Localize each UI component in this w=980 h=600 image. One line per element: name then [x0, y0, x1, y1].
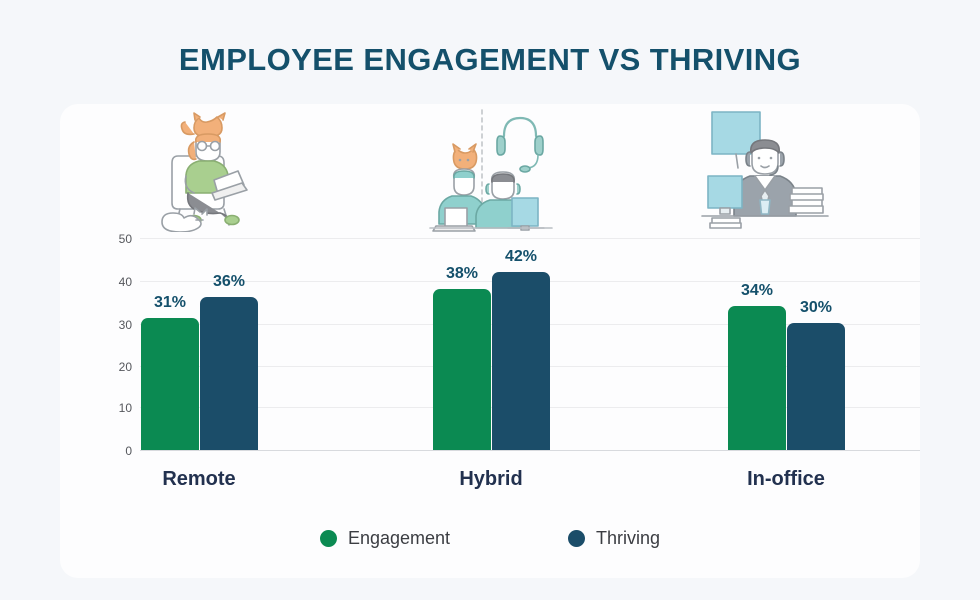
- ytick-label-20: 20: [88, 360, 132, 374]
- chart-legend: Engagement Thriving: [60, 528, 920, 549]
- chart-card: 50 40 30 20 10 0 31% 36% Remote 38% 42% …: [60, 104, 920, 578]
- bar-label-inoffice-thriving: 30%: [787, 299, 845, 317]
- legend-item-engagement[interactable]: Engagement: [320, 528, 450, 549]
- ytick-label-0: 0: [88, 444, 132, 458]
- ytick-label-50: 50: [88, 232, 132, 246]
- legend-item-thriving[interactable]: Thriving: [568, 528, 660, 549]
- bar-hybrid-engagement[interactable]: [433, 289, 491, 450]
- bar-label-remote-engagement: 31%: [141, 294, 199, 312]
- ytick-label-30: 30: [88, 318, 132, 332]
- bar-remote-engagement[interactable]: [141, 318, 199, 450]
- legend-label-engagement: Engagement: [348, 528, 450, 549]
- axis-baseline: [140, 450, 920, 451]
- bar-label-hybrid-thriving: 42%: [492, 248, 550, 266]
- legend-label-thriving: Thriving: [596, 528, 660, 549]
- gridline-50: [140, 238, 920, 239]
- bar-inoffice-thriving[interactable]: [787, 323, 845, 450]
- plot-area: 50 40 30 20 10 0 31% 36% Remote 38% 42% …: [60, 104, 920, 578]
- bar-hybrid-thriving[interactable]: [492, 272, 550, 450]
- bar-label-hybrid-engagement: 38%: [433, 265, 491, 283]
- bar-inoffice-engagement[interactable]: [728, 306, 786, 450]
- legend-dot-icon-thriving: [568, 530, 585, 547]
- category-label-remote: Remote: [139, 468, 259, 491]
- page-title: EMPLOYEE ENGAGEMENT VS THRIVING: [0, 42, 980, 78]
- bar-remote-thriving[interactable]: [200, 297, 258, 450]
- bar-label-inoffice-engagement: 34%: [728, 282, 786, 300]
- category-label-in-office: In-office: [726, 468, 846, 491]
- bar-label-remote-thriving: 36%: [200, 273, 258, 291]
- category-label-hybrid: Hybrid: [431, 468, 551, 491]
- ytick-label-10: 10: [88, 401, 132, 415]
- chart-canvas: EMPLOYEE ENGAGEMENT VS THRIVING: [0, 0, 980, 600]
- legend-dot-icon-engagement: [320, 530, 337, 547]
- ytick-label-40: 40: [88, 275, 132, 289]
